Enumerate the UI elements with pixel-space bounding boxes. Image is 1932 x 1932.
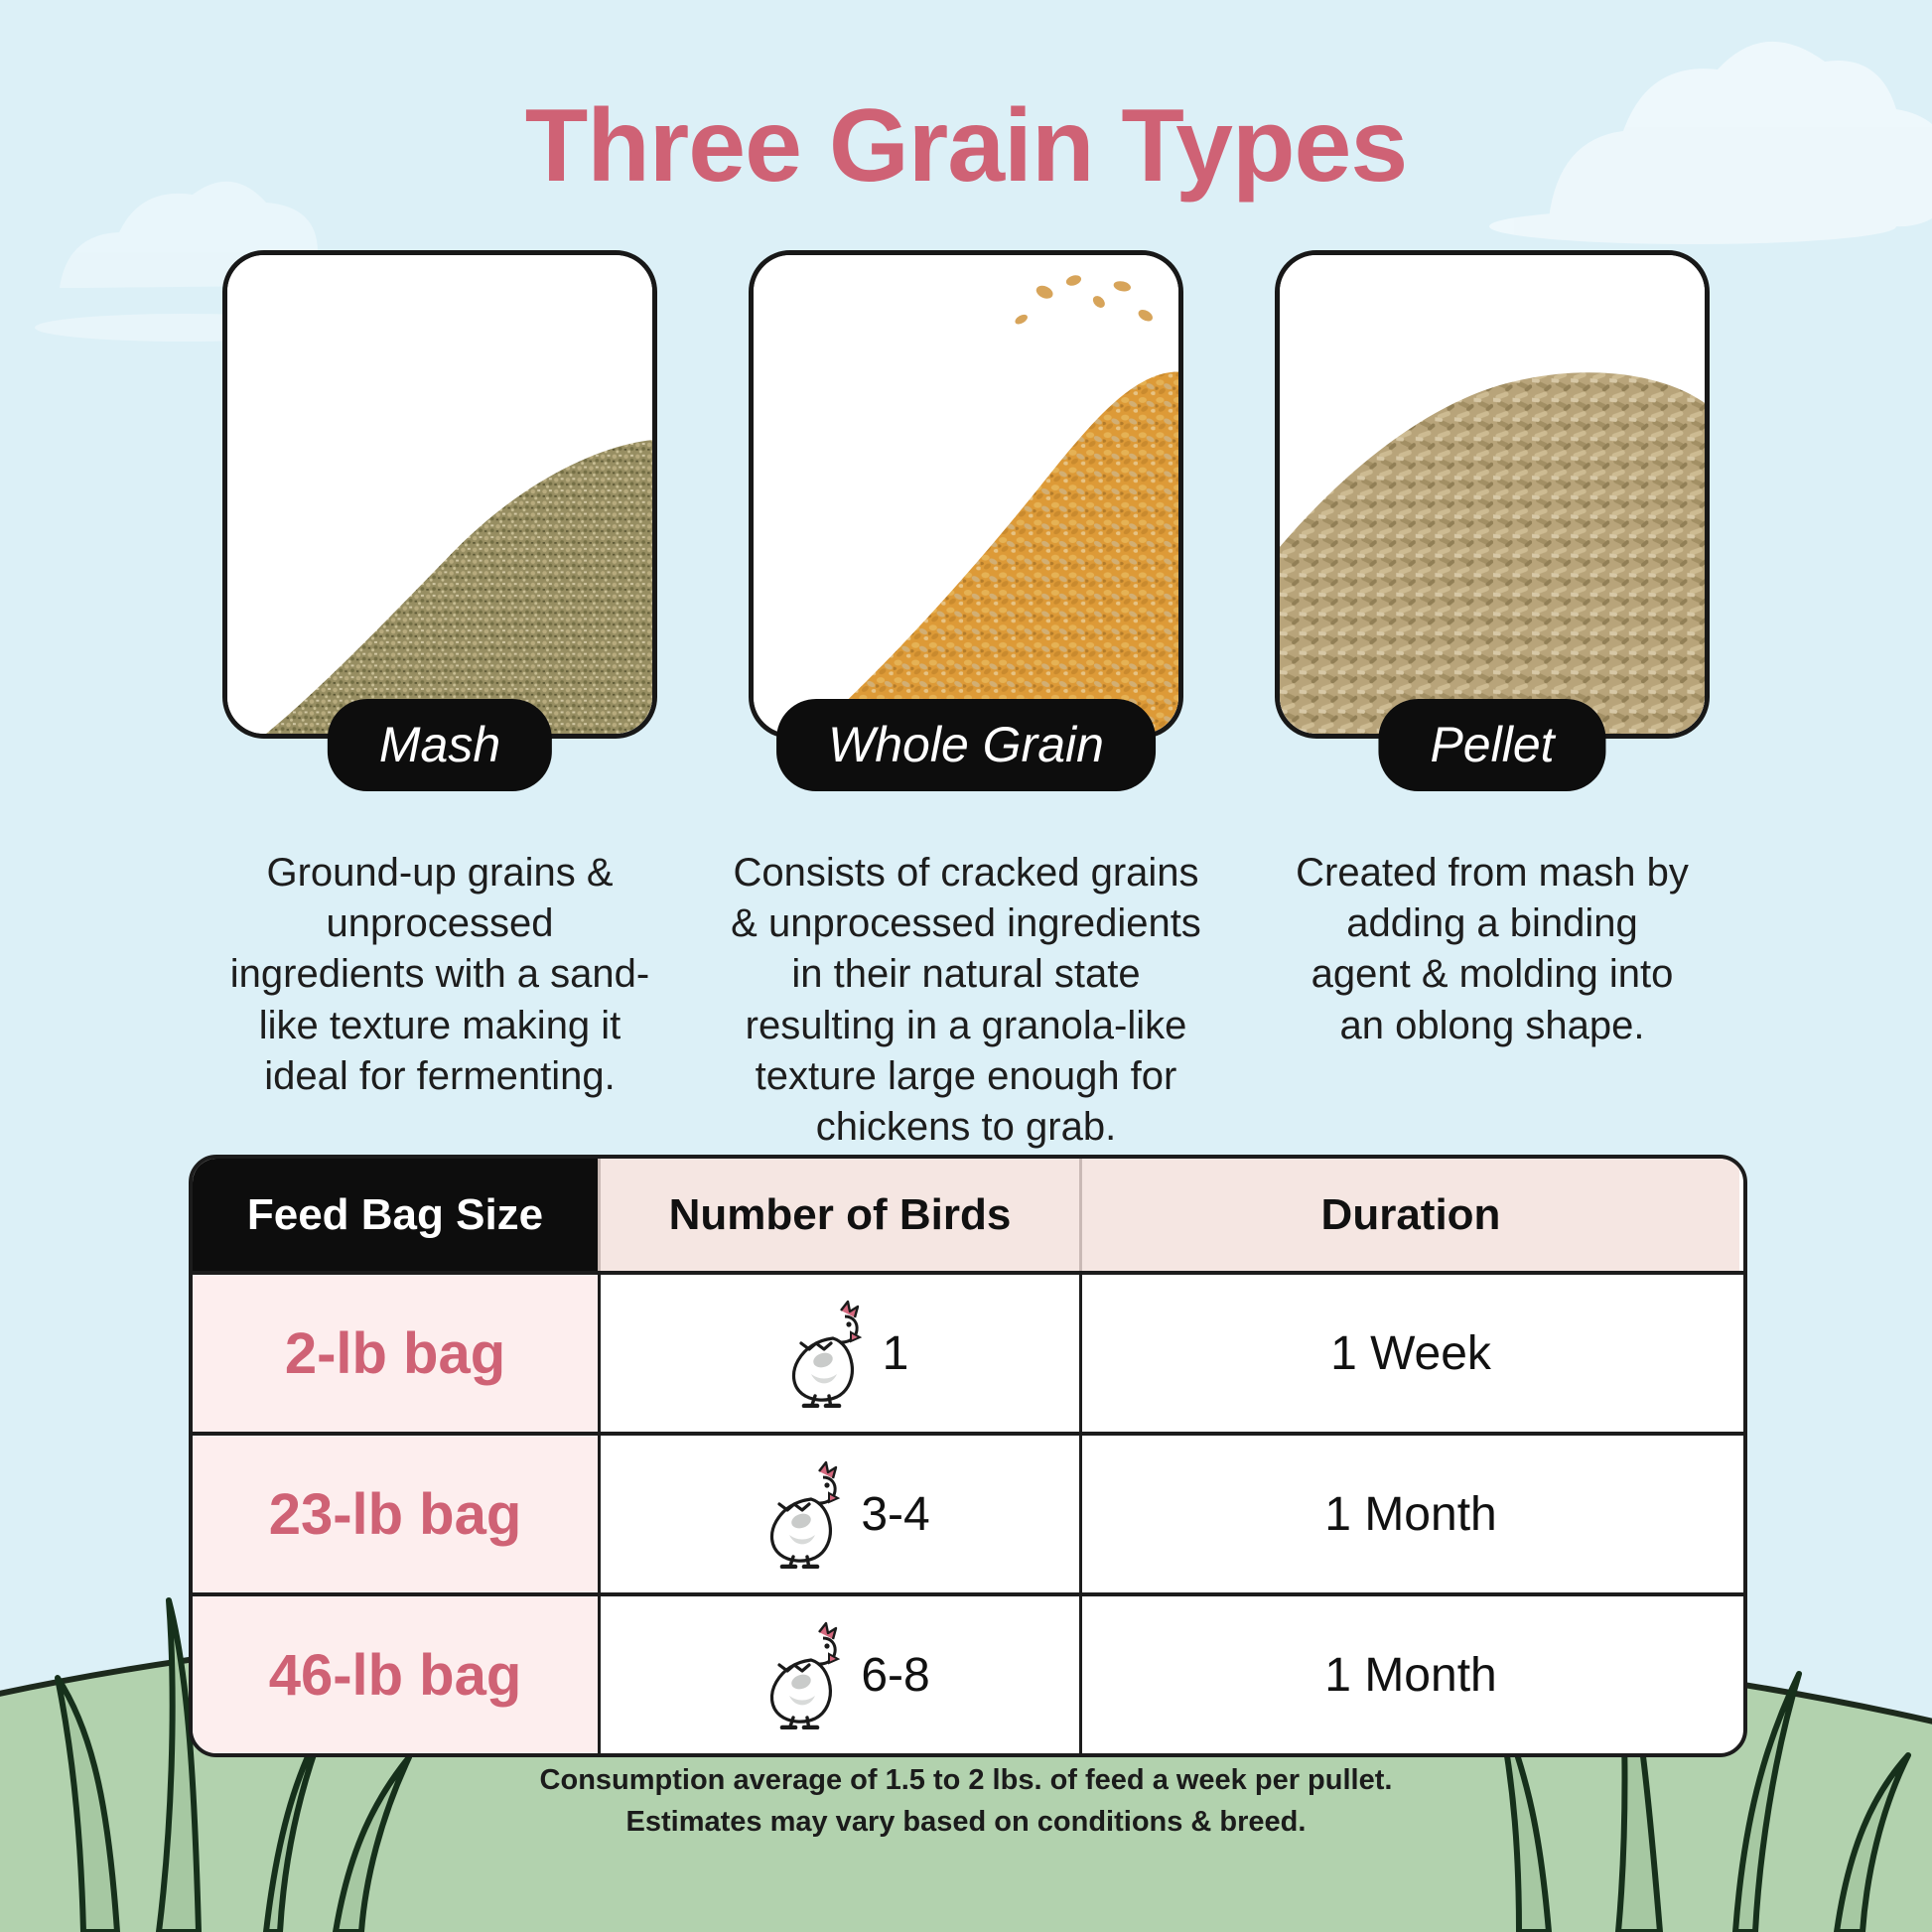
cell-bag-size: 46-lb bag bbox=[193, 1596, 598, 1753]
table-header-number-of-birds: Number of Birds bbox=[598, 1159, 1079, 1271]
card-description-whole-grain: Consists of cracked grains & unprocessed… bbox=[718, 848, 1214, 1153]
cell-duration: 1 Week bbox=[1079, 1275, 1739, 1432]
grain-card-pellet: Pellet Created from mash by adding a bin… bbox=[1275, 250, 1710, 1153]
card-description-pellet: Created from mash by adding a binding ag… bbox=[1292, 848, 1693, 1051]
table-header-feed-bag-size: Feed Bag Size bbox=[193, 1159, 598, 1271]
table-row: 23-lb bag 3-4 1 Month bbox=[193, 1432, 1743, 1592]
cell-bag-size: 2-lb bag bbox=[193, 1275, 598, 1432]
table-header-duration: Duration bbox=[1079, 1159, 1739, 1271]
cell-number-of-birds: 3-4 bbox=[598, 1436, 1079, 1592]
pellet-pile-photo bbox=[1275, 250, 1710, 739]
footnote: Consumption average of 1.5 to 2 lbs. of … bbox=[0, 1759, 1932, 1843]
card-description-mash: Ground-up grains & unprocessed ingredien… bbox=[222, 848, 657, 1102]
page-title: Three Grain Types bbox=[0, 87, 1932, 206]
table-row: 46-lb bag 6-8 1 Month bbox=[193, 1592, 1743, 1753]
table-header-row: Feed Bag Size Number of Birds Duration bbox=[193, 1159, 1743, 1271]
mash-pile-photo bbox=[222, 250, 657, 739]
card-label-pellet: Pellet bbox=[1378, 699, 1605, 791]
chicken-icon bbox=[771, 1299, 867, 1408]
grain-card-whole-grain: Whole Grain Consists of cracked grains &… bbox=[749, 250, 1183, 1153]
footnote-line-1: Consumption average of 1.5 to 2 lbs. of … bbox=[0, 1759, 1932, 1801]
cell-duration: 1 Month bbox=[1079, 1436, 1739, 1592]
chicken-icon bbox=[750, 1620, 845, 1729]
card-label-mash: Mash bbox=[328, 699, 552, 791]
grain-type-cards: Mash Ground-up grains & unprocessed ingr… bbox=[0, 250, 1932, 1153]
bird-count-label: 6-8 bbox=[861, 1648, 929, 1703]
cell-duration: 1 Month bbox=[1079, 1596, 1739, 1753]
whole-grain-pile-photo bbox=[749, 250, 1183, 739]
cell-bag-size: 23-lb bag bbox=[193, 1436, 598, 1592]
grain-card-mash: Mash Ground-up grains & unprocessed ingr… bbox=[222, 250, 657, 1153]
bird-count-label: 1 bbox=[883, 1326, 909, 1381]
card-label-whole-grain: Whole Grain bbox=[776, 699, 1156, 791]
cell-number-of-birds: 6-8 bbox=[598, 1596, 1079, 1753]
table-row: 2-lb bag 1 1 Week bbox=[193, 1271, 1743, 1432]
bird-count-label: 3-4 bbox=[861, 1487, 929, 1542]
cell-number-of-birds: 1 bbox=[598, 1275, 1079, 1432]
footnote-line-2: Estimates may vary based on conditions &… bbox=[0, 1801, 1932, 1843]
feed-bag-table: Feed Bag Size Number of Birds Duration 2… bbox=[189, 1155, 1747, 1757]
chicken-icon bbox=[750, 1459, 845, 1569]
